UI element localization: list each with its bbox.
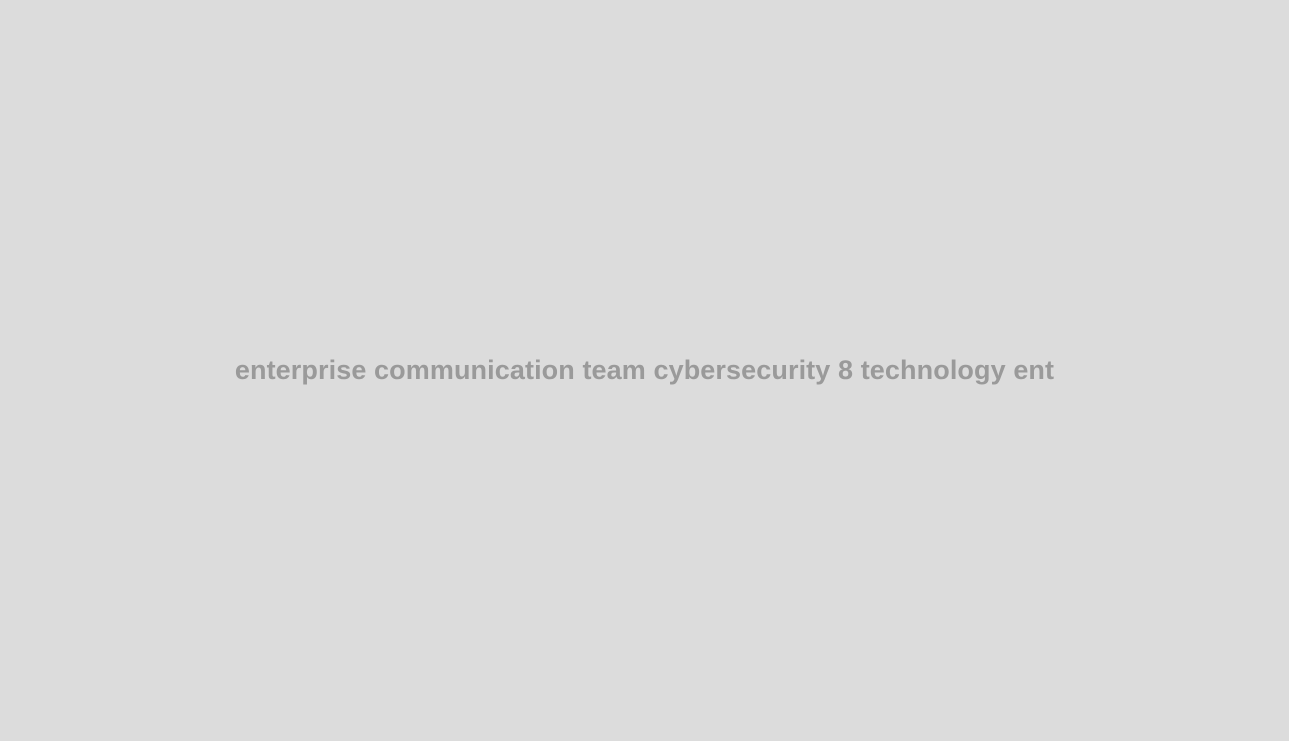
placeholder-label: enterprise communication team cybersecur… xyxy=(235,354,1054,386)
placeholder-image-canvas: enterprise communication team cybersecur… xyxy=(0,0,1289,741)
